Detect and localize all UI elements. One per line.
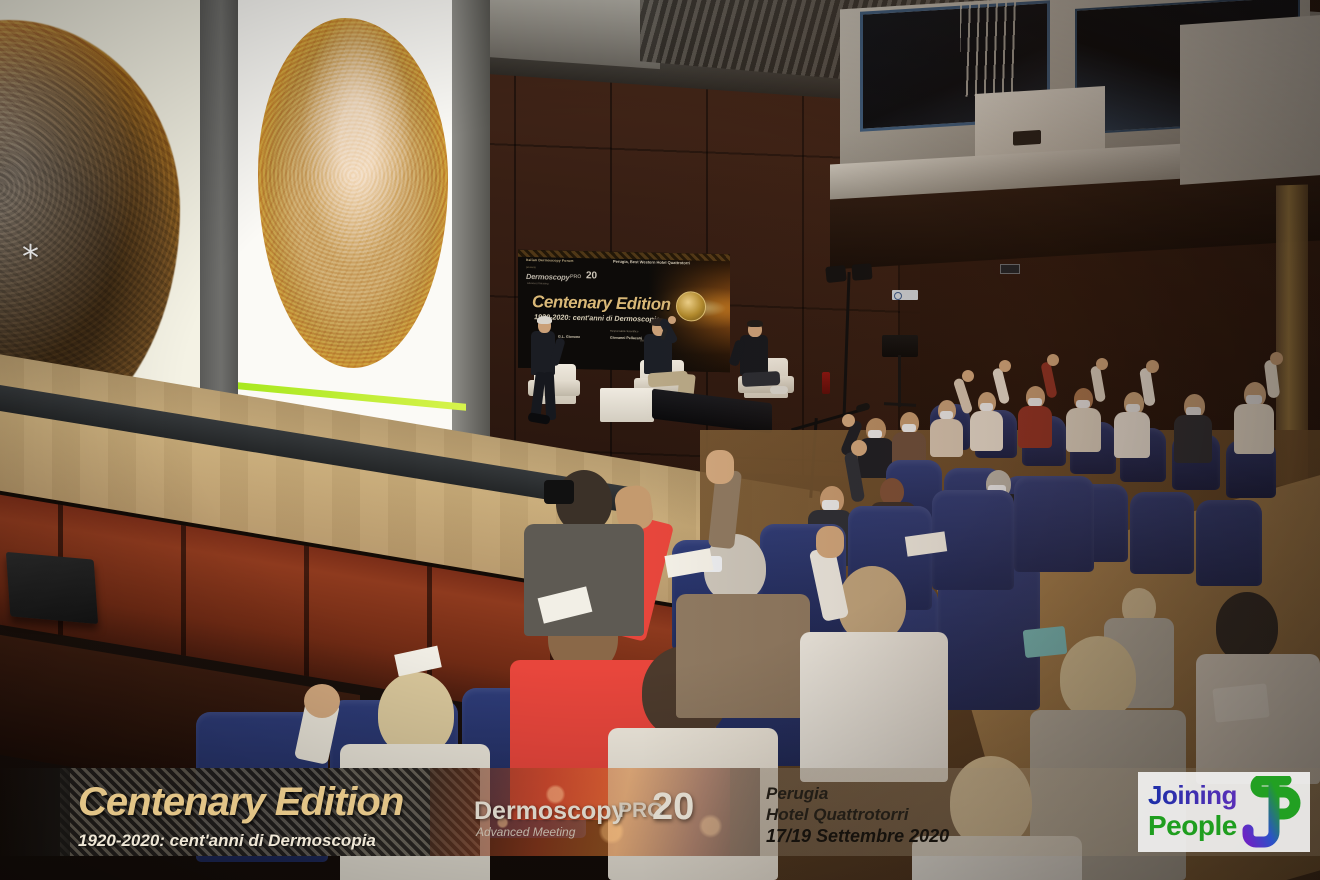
seat	[1130, 492, 1194, 574]
stage-monitor-speaker	[6, 552, 98, 624]
backdrop-tagline: Advanced Meeting	[527, 282, 549, 285]
attendee-body	[970, 411, 1003, 451]
face-mask	[980, 403, 993, 411]
attendee-hand	[1047, 354, 1059, 366]
panelist-3-shoe	[770, 386, 788, 394]
seat	[1196, 500, 1262, 586]
face-mask	[1126, 404, 1140, 412]
panelist-3-legs	[742, 371, 781, 387]
backdrop-brand-pro: PRO	[570, 274, 581, 280]
joining-people-logo: Joining People	[1138, 772, 1310, 852]
backdrop-gold-seal	[676, 291, 706, 322]
booth-cables	[960, 0, 1020, 97]
backdrop-venue: Perugia, Best Western Hotel Quattrotorri	[613, 259, 690, 266]
attendee-head-blonde	[1060, 636, 1136, 720]
backdrop-organizer: Italian Dermoscopy Forum	[526, 258, 574, 263]
attendee-body	[1174, 415, 1212, 463]
jp-monogram-icon	[1242, 776, 1306, 848]
banner-title: Centenary Edition	[78, 780, 403, 825]
face-mask	[1076, 400, 1090, 408]
right-white-wall	[1180, 15, 1320, 185]
backdrop-brand-year: 20	[586, 270, 597, 281]
attendee-hand	[816, 526, 844, 558]
attendee-head	[1216, 592, 1278, 662]
banner-left-fade	[0, 768, 70, 856]
attendee-body	[1066, 408, 1101, 452]
conference-photo: * Italian Dermoscopy Forum presents Derm…	[0, 0, 1320, 880]
attendee-body	[1234, 404, 1274, 454]
attendee-hand	[962, 370, 974, 382]
banner-brand-tagline: Advanced Meeting	[476, 825, 575, 839]
face-mask	[1028, 398, 1042, 406]
attendee-body	[1018, 406, 1052, 448]
camera	[544, 480, 574, 504]
attendee-hand	[842, 414, 855, 427]
speaker-stand-pole	[898, 355, 901, 407]
screen-right-edge	[452, 0, 490, 442]
logo-line-2: People	[1148, 810, 1237, 842]
asterisk-marker: *	[22, 247, 39, 268]
attendee-hand	[1270, 352, 1283, 365]
panelist-3-body	[740, 335, 768, 375]
attendee-hand	[999, 360, 1011, 372]
banner-subtitle: 1920-2020: cent'anni di Dermoscopia	[78, 831, 376, 851]
attendee-head	[838, 566, 906, 642]
fire-extinguisher	[822, 372, 830, 394]
conference-bag	[1023, 626, 1068, 658]
banner-city: Perugia	[766, 784, 828, 804]
seat	[1014, 476, 1094, 572]
no-smoking-sign	[892, 290, 918, 300]
panelist-1-hair	[537, 316, 552, 324]
backdrop-speaker-role-right: Responsabile Scientifico	[610, 330, 638, 334]
wall-socket-plate	[1000, 264, 1020, 274]
face-mask	[1246, 395, 1262, 404]
banner-brand-year: 20	[652, 786, 694, 829]
face-mask	[868, 430, 882, 438]
attendee-body	[1114, 412, 1150, 458]
studio-light-2	[851, 263, 872, 280]
attendee-body	[676, 594, 810, 718]
conference-bag	[1212, 683, 1269, 722]
logo-line-1: Joining	[1148, 780, 1237, 811]
backdrop-presents: presents	[526, 266, 536, 269]
attendee-hand	[851, 440, 867, 456]
backdrop-subtitle: 1920-2020: cent'anni di Dermoscopia	[534, 312, 660, 324]
face-mask	[902, 424, 916, 432]
attendee-hand	[1146, 360, 1159, 373]
face-mask	[822, 500, 839, 510]
backdrop-brand: Dermoscopy	[526, 272, 569, 282]
panelist-3-hair	[747, 320, 763, 327]
studio-light-1	[825, 265, 847, 283]
backdrop-speaker-name-right: Giovanni Pellacani	[610, 336, 642, 341]
stage-side-table	[600, 388, 654, 422]
attendee-body	[930, 419, 963, 457]
attendee-hand	[1096, 358, 1108, 370]
face-mask	[940, 411, 953, 419]
banner-hotel: Hotel Quattrotorri	[766, 805, 909, 825]
pa-speaker	[882, 335, 918, 357]
attendee-head	[880, 478, 904, 505]
banner-date: 17/19 Settembre 2020	[766, 826, 949, 847]
banner-brand: Dermoscopy	[474, 797, 625, 826]
attendee-hand	[304, 684, 340, 718]
attendee-hand	[706, 450, 734, 484]
attendee-body	[800, 632, 948, 782]
panelist-2-hand	[668, 316, 676, 324]
